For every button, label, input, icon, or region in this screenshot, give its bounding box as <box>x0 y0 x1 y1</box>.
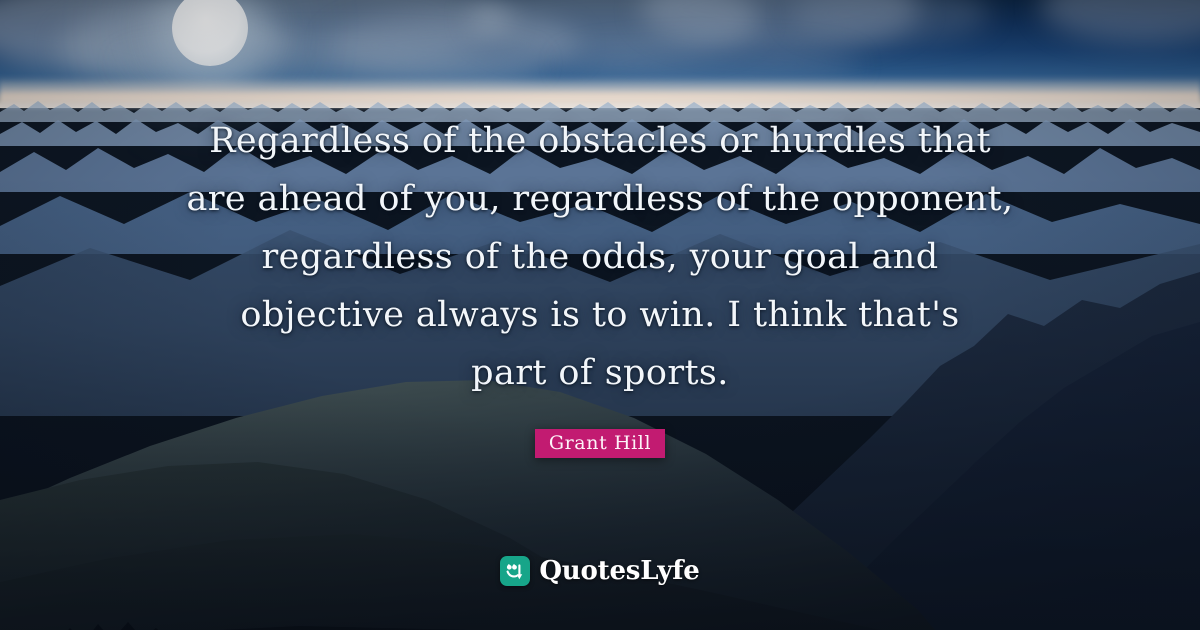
quote-card: Regardless of the obstacles or hurdles t… <box>0 0 1200 630</box>
card-content: Regardless of the obstacles or hurdles t… <box>0 0 1200 630</box>
brand-logo[interactable]: QuotesLyfe <box>0 556 1200 586</box>
author-badge[interactable]: Grant Hill <box>535 429 665 458</box>
quote-marks-icon <box>500 556 530 586</box>
quote-text: Regardless of the obstacles or hurdles t… <box>170 112 1030 402</box>
brand-name: QuotesLyfe <box>539 558 699 584</box>
